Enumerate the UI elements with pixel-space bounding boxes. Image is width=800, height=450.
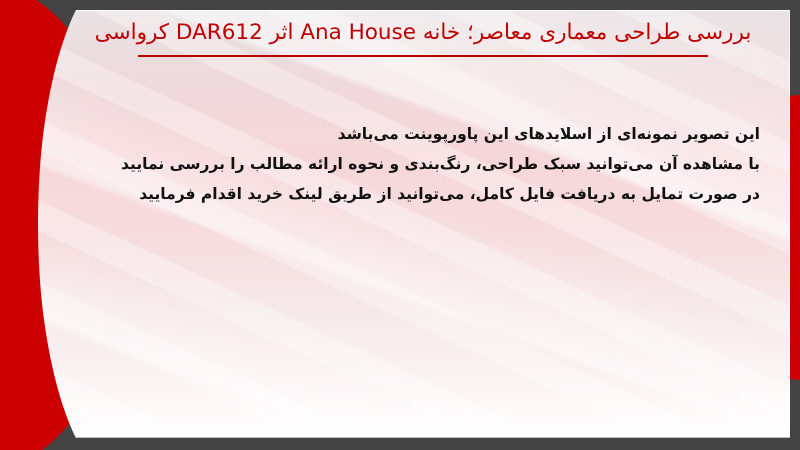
slide-body-block: این تصویر نمونه‌ای از اسلایدهای این پاور… — [70, 120, 760, 209]
body-line-3: در صورت تمایل به دریافت فایل کامل، می‌تو… — [70, 180, 760, 210]
title-underline-rule — [138, 55, 708, 57]
slide-content-panel: بررسی طراحی معماری معاصر؛ خانه Ana House… — [18, 10, 790, 438]
slide-title: بررسی طراحی معماری معاصر؛ خانه Ana House… — [78, 18, 768, 49]
body-line-2: با مشاهده آن می‌توانید سبک طراحی، رنگ‌بن… — [70, 150, 760, 180]
body-line-1: این تصویر نمونه‌ای از اسلایدهای این پاور… — [70, 120, 760, 150]
slide-title-block: بررسی طراحی معماری معاصر؛ خانه Ana House… — [78, 18, 768, 57]
presentation-slide: بررسی طراحی معماری معاصر؛ خانه Ana House… — [0, 0, 800, 450]
slide-content-inner: بررسی طراحی معماری معاصر؛ خانه Ana House… — [18, 10, 790, 438]
